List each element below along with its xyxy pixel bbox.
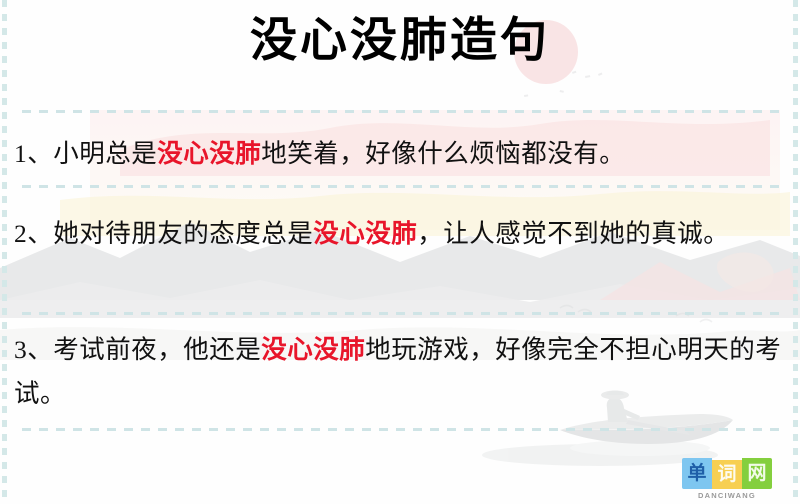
logo-subtitle: DANCIWANG: [671, 491, 783, 500]
sentence-keyword: 没心没肺: [261, 335, 365, 364]
list-item: 1、小明总是没心没肺地笑着，好像什么烦恼都没有。: [14, 132, 786, 176]
sentence-keyword: 没心没肺: [157, 139, 261, 168]
sentence-index: 3、: [14, 335, 53, 364]
logo-tile-dan: 单: [682, 458, 712, 489]
list-item: 2、她对待朋友的态度总是没心没肺，让人感觉不到她的真诚。: [14, 212, 786, 256]
sentence-after: ，让人感觉不到她的真诚。: [417, 219, 729, 248]
slide-page: 没心没肺造句 1、小明总是没心没肺地笑着，好像什么烦恼都没有。 2、她对待朋友的…: [0, 0, 800, 504]
logo-tiles: 单 词 网: [671, 456, 783, 489]
logo-tile-wang: 网: [742, 458, 772, 489]
list-item: 3、考试前夜，他还是没心没肺地玩游戏，好像完全不担心明天的考试。: [14, 328, 786, 416]
sentence-before: 小明总是: [53, 139, 157, 168]
sentence-list: 1、小明总是没心没肺地笑着，好像什么烦恼都没有。 2、她对待朋友的态度总是没心没…: [0, 0, 800, 504]
sentence-before: 她对待朋友的态度总是: [53, 219, 313, 248]
site-logo[interactable]: 单 词 网 DANCIWANG: [671, 456, 783, 500]
sentence-after: 地笑着，好像什么烦恼都没有。: [261, 139, 625, 168]
sentence-before: 考试前夜，他还是: [53, 335, 261, 364]
logo-tile-ci: 词: [712, 460, 742, 489]
sentence-index: 2、: [14, 219, 53, 248]
sentence-index: 1、: [14, 139, 53, 168]
sentence-keyword: 没心没肺: [313, 219, 417, 248]
